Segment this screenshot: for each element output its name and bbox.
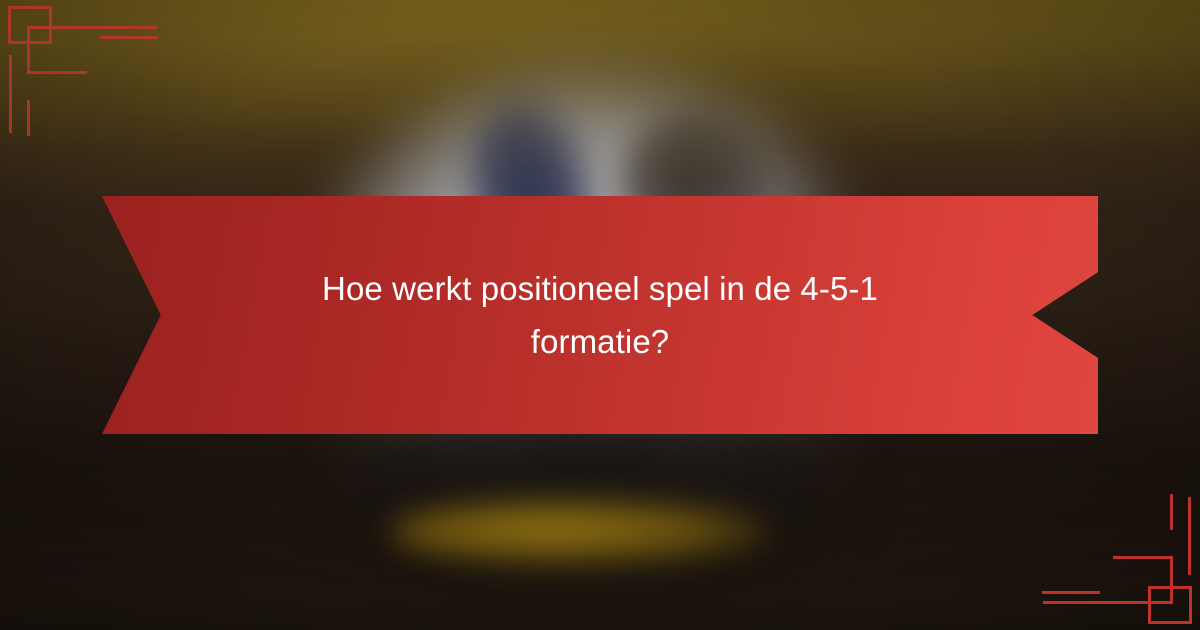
- corner-line-vertical-3: [1170, 494, 1173, 530]
- title-container: Hoe werkt positioneel spel in de 4-5-1 f…: [102, 196, 1098, 434]
- corner-line-square-left: [1189, 586, 1192, 624]
- corner-line-square-right: [1148, 586, 1151, 624]
- corner-decoration-bottom-right: [1048, 498, 1200, 630]
- corner-line-vertical-1: [27, 26, 30, 74]
- corner-line-horizontal-2: [1113, 556, 1173, 559]
- corner-line-square-top: [8, 6, 52, 9]
- corner-line-vertical-1: [1170, 556, 1173, 604]
- corner-line-square-left: [8, 6, 11, 44]
- corner-line-square-bottom: [8, 41, 52, 44]
- corner-line-horizontal-2: [27, 71, 87, 74]
- page-title: Hoe werkt positioneel spel in de 4-5-1 f…: [270, 262, 930, 369]
- corner-line-horizontal-3: [1042, 591, 1100, 594]
- corner-line-square-right: [49, 6, 52, 44]
- corner-line-horizontal-1: [1043, 601, 1173, 604]
- social-share-card: Hoe werkt positioneel spel in de 4-5-1 f…: [0, 0, 1200, 630]
- corner-decoration-top-left: [0, 0, 152, 132]
- corner-line-vertical-2: [1188, 497, 1191, 575]
- corner-line-vertical-3: [27, 100, 30, 136]
- corner-line-horizontal-3: [100, 36, 158, 39]
- corner-line-vertical-2: [9, 55, 12, 133]
- corner-line-horizontal-1: [27, 26, 157, 29]
- corner-line-square-top: [1148, 621, 1192, 624]
